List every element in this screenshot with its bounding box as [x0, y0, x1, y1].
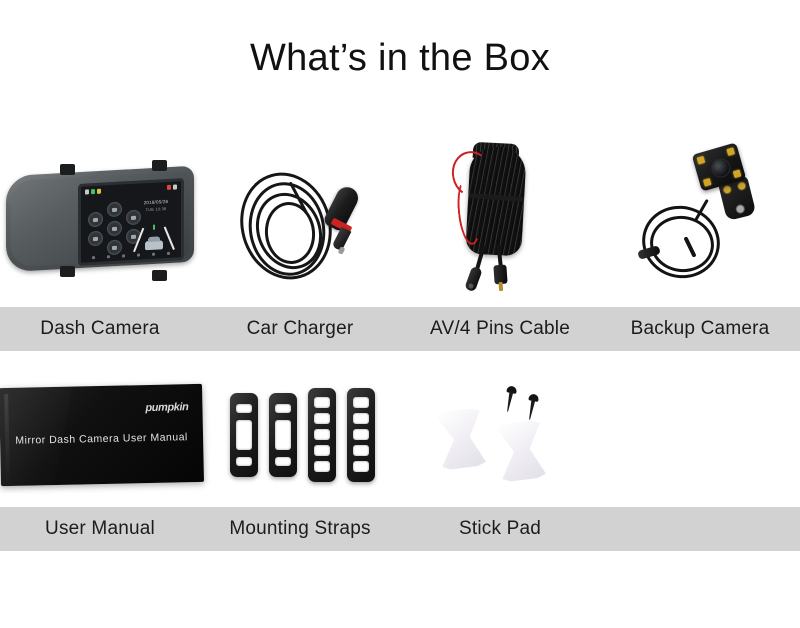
screw-shaft	[505, 392, 513, 412]
strap-slot	[353, 445, 369, 456]
mounting-strap-three-slot	[230, 393, 258, 477]
lane-line-right	[164, 226, 175, 250]
lane-line-left	[133, 227, 144, 251]
status-icon-signal	[85, 189, 89, 194]
caption-car-charger: Car Charger	[200, 307, 400, 351]
strap-slot	[275, 420, 291, 450]
product-image-user-manual: pumpkin Mirror Dash Camera User Manual	[0, 362, 203, 507]
screw-icon	[524, 393, 539, 420]
screw-shaft	[527, 400, 535, 420]
screw-icon	[502, 385, 517, 412]
app-icon-video	[107, 220, 122, 236]
mirror-clip-top-left	[60, 164, 75, 175]
av-connector-male-jack	[493, 265, 507, 285]
strap-slot	[314, 413, 330, 424]
manual-brand-logo: pumpkin	[145, 401, 188, 414]
app-icon-gallery	[88, 230, 103, 246]
caption-backup-camera: Backup Camera	[600, 307, 800, 351]
nav-dot	[107, 255, 110, 258]
strap-slot	[275, 404, 291, 413]
mounting-strap-five-slot	[308, 388, 336, 482]
mirror-clip-bottom-left	[60, 266, 75, 277]
av-4-pin-cable-icon	[440, 141, 560, 296]
camera-led-icon	[726, 147, 735, 156]
mirror-clip-top-right	[152, 160, 167, 171]
mirror-screen: 2018/05/26 TUE 10:36	[78, 178, 184, 266]
lane-car-icon	[145, 240, 163, 250]
strap-slot	[236, 420, 252, 450]
nav-dot	[167, 251, 170, 254]
av-connector-female-jack	[464, 266, 483, 292]
strap-slot	[314, 397, 330, 408]
product-row-1: 2018/05/26 TUE 10:36	[0, 130, 800, 307]
mounting-strap-five-slot	[347, 388, 375, 482]
product-image-car-charger	[200, 130, 400, 307]
caption-av-cable: AV/4 Pins Cable	[400, 307, 600, 351]
screen-status-bar	[81, 183, 181, 196]
product-image-empty	[601, 362, 800, 507]
nav-dot	[92, 256, 95, 259]
mounting-strap-three-slot	[269, 393, 297, 477]
status-icon-gps	[97, 188, 101, 193]
rubber-mounting-straps-icon	[213, 385, 393, 485]
stick-pad-piece	[435, 408, 486, 471]
product-image-av-cable	[400, 130, 600, 307]
product-image-mounting-straps	[203, 362, 402, 507]
status-icon-record	[167, 184, 171, 189]
product-image-dash-camera: 2018/05/26 TUE 10:36	[0, 130, 200, 307]
user-manual-booklet-icon: pumpkin Mirror Dash Camera User Manual	[0, 383, 204, 485]
product-image-stick-pad	[402, 362, 601, 507]
strap-slot	[353, 397, 369, 408]
strap-slot	[314, 461, 330, 472]
nav-dot	[137, 253, 140, 256]
mirror-clip-bottom-right	[152, 270, 167, 281]
screen-clock: 2018/05/26 TUE 10:36	[135, 197, 177, 213]
product-image-backup-camera	[600, 130, 800, 307]
strap-slot	[236, 404, 252, 413]
product-row-2: pumpkin Mirror Dash Camera User Manual	[0, 362, 800, 507]
strap-slot	[314, 445, 330, 456]
status-icon-sd	[173, 184, 177, 189]
backup-camera-icon	[630, 144, 770, 294]
caption-band-row-1: Dash Camera Car Charger AV/4 Pins Cable …	[0, 307, 800, 351]
rearview-mirror-dash-camera-icon: 2018/05/26 TUE 10:36	[6, 171, 194, 267]
app-icon-camera	[107, 201, 122, 217]
bracket-screw-hole	[736, 180, 747, 191]
app-icon-settings	[88, 211, 103, 227]
strap-slot	[314, 429, 330, 440]
caption-dash-camera: Dash Camera	[0, 307, 200, 351]
camera-led-icon	[733, 169, 742, 178]
strap-slot	[275, 457, 291, 466]
caption-band-row-2: User Manual Mounting Straps Stick Pad	[0, 507, 800, 551]
strap-slot	[236, 457, 252, 466]
stick-pad-piece	[495, 420, 546, 483]
status-icon-battery	[91, 189, 95, 194]
car-charger-cable-icon	[235, 144, 365, 294]
lane-marker-icon	[153, 224, 155, 229]
caption-user-manual: User Manual	[0, 507, 200, 551]
nav-dot	[152, 252, 155, 255]
camera-lens-icon	[708, 155, 732, 179]
caption-empty	[600, 507, 800, 551]
screen-lane-assist-view	[130, 223, 178, 252]
caption-mounting-straps: Mounting Straps	[200, 507, 400, 551]
strap-slot	[353, 429, 369, 440]
bracket-pivot	[735, 203, 746, 214]
nav-dot	[122, 254, 125, 257]
adhesive-stick-pad-icon	[427, 382, 577, 487]
strap-slot	[353, 413, 369, 424]
caption-stick-pad: Stick Pad	[400, 507, 600, 551]
camera-led-icon	[697, 155, 706, 164]
strap-slot	[353, 461, 369, 472]
camera-led-icon	[703, 177, 712, 186]
page-title: What’s in the Box	[0, 34, 800, 82]
